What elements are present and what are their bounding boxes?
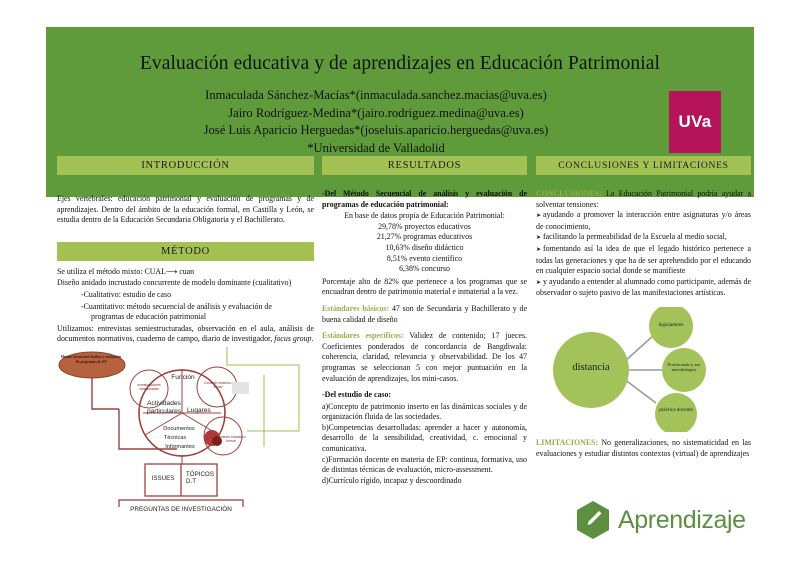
limitaciones-label: LIMITACIONES: (536, 438, 598, 447)
section-header-introduccion: INTRODUCCIÓN (57, 156, 314, 175)
diagram-label-contexto-historico: Contexto histórico-social (201, 381, 235, 389)
resultados-stat: 10,63% diseño didáctico (322, 243, 527, 254)
method-diagram-oval-label: Método Secuencial Análisis y evaluación … (60, 355, 122, 364)
metodo-bullet-2: -Cuantitativo: método secuencial de anál… (57, 302, 314, 313)
resultados-heading-2-text: -Del estudio de caso: (322, 390, 391, 399)
diagram-label-tecnicas: Técnicas (150, 435, 200, 441)
column-left: INTRODUCCIÓN Ejes vertebrales: educación… (57, 156, 314, 507)
estandares-especificos: Estándares específicos: Validez de conte… (322, 331, 527, 384)
limitaciones-body: LIMITACIONES: No generalizaciones, no si… (536, 438, 751, 459)
resultados-heading-1: -Del Método Secuencial de análisis y eva… (322, 189, 527, 210)
metodo-line-1: Se utiliza el método mixto: CUAL⟶ cuan (57, 267, 314, 278)
resultados-stat: 8,51% evento científico (322, 254, 527, 265)
metodo-line-2: Diseño anidado incrustado concurrente de… (57, 278, 314, 289)
affiliation-line: *Universidad de Valladolid (46, 140, 706, 158)
introduccion-paragraph: Ejes vertebrales: educación patrimonial … (57, 194, 314, 226)
resultados-stat: 6,38% concurso (322, 264, 527, 275)
conclusiones-label: CONCLUSIONES: (536, 189, 602, 198)
estandares-basicos: Estándares básicos: 47 son de Secundaria… (322, 304, 527, 325)
diagram-label-investigaciones: Investigaciones relacionadas (131, 383, 167, 391)
conclusiones-bullet: facilitando la permeabilidad de la Escue… (536, 232, 751, 244)
conclusiones-intro: CONCLUSIONES: La Educación Patrimonial p… (536, 189, 751, 210)
conclusiones-bullet: ayudando a promover la interacción entre… (536, 210, 751, 232)
author-line: Inmaculada Sánchez-Macías*(inmaculada.sa… (46, 87, 706, 105)
resultados-stat: 29,78% proyectos educativos (322, 222, 527, 233)
aprendizaje-logo: Aprendizaje (575, 500, 746, 540)
bubble-label-profesorado: Profesorado y sus metodologías (664, 362, 704, 373)
section-header-metodo: MÉTODO (57, 242, 314, 261)
diagram-box-issues: ISSUES (146, 475, 180, 482)
author-line: Jairo Rodríguez-Medina*(jairo.rodriguez.… (46, 105, 706, 123)
diagram-label-lugares: Lugares (187, 407, 229, 414)
metodo-line-3-end: . (311, 334, 313, 343)
conclusiones-body: CONCLUSIONES: La Educación Patrimonial p… (536, 189, 751, 299)
author-line: José Luis Aparicio Herguedas*(joseluis.a… (46, 122, 706, 140)
resultados-heading-2: -Del estudio de caso: (322, 390, 527, 401)
resultados-db-lead: En base de datos propia de Educación Pat… (322, 211, 527, 222)
bubble-label-legisladores: legisladores (647, 322, 695, 328)
metodo-body: Se utiliza el método mixto: CUAL⟶ cuan D… (57, 267, 314, 345)
resultados-item: c)Formación docente en materia de EP: co… (322, 455, 527, 476)
diagram-label-funcion: Función (161, 374, 205, 381)
conclusiones-bullet: y ayudando a entender al alumnado como p… (536, 277, 751, 299)
page-title: Evaluación educativa y de aprendizajes e… (46, 53, 754, 75)
diagram-label-documentos: Documentos (152, 426, 206, 432)
resultados-stat: 21,27% programas educativos (322, 232, 527, 243)
resultados-item: a)Concepto de patrimonio inserto en las … (322, 402, 527, 423)
section-header-conclusiones: CONCLUSIONES Y LIMITACIONES (536, 156, 751, 175)
metodo-line-3-italic: focus group (274, 334, 311, 343)
diagram-label-contexto-educativo: Contexto educativo formal (215, 435, 247, 443)
bubble-label-practica-docente: práctica docente (657, 407, 695, 413)
uva-logo-text: UVa (678, 112, 711, 132)
column-right: CONCLUSIONES Y LIMITACIONES CONCLUSIONES… (536, 156, 751, 465)
pencil-hexagon-icon (575, 500, 611, 540)
limitaciones: LIMITACIONES: No generalizaciones, no si… (536, 438, 751, 459)
author-list: Inmaculada Sánchez-Macías*(inmaculada.sa… (46, 87, 706, 157)
estandares-especificos-label: Estándares específicos: (322, 331, 404, 340)
bubble-center-label: distancia (553, 362, 629, 373)
resultados-body: -Del Método Secuencial de análisis y eva… (322, 189, 527, 486)
resultados-heading-1-text: -Del Método Secuencial de análisis y eva… (322, 189, 527, 209)
conclusiones-bullet: fomentando así la idea de que el legado … (536, 244, 751, 277)
resultados-item: b)Competencias desarrolladas: aprender a… (322, 423, 527, 455)
diagram-box-topicos: TÓPICOS D.T (186, 471, 220, 486)
diagram-box-preguntas: PREGUNTAS DE INVESTIGACIÓN (119, 506, 243, 513)
resultados-stats-note: Porcentaje alto de 82% que pertenece a l… (322, 277, 527, 298)
introduccion-body: Ejes vertebrales: educación patrimonial … (57, 194, 314, 226)
diagram-label-informantes: Informantes (153, 444, 207, 450)
metodo-bullet-2b: programas de educación patrimonial (57, 312, 314, 323)
column-middle: RESULTADOS -Del Método Secuencial de aná… (322, 156, 527, 486)
diagram-label-actividades: Actividades particulares (142, 400, 186, 416)
uva-logo: UVa (669, 91, 721, 153)
section-header-resultados: RESULTADOS (322, 156, 527, 175)
bubble-diagram: distancia legisladores Profesorado y sus… (536, 307, 751, 432)
method-diagram: Método Secuencial Análisis y evaluación … (57, 347, 314, 507)
metodo-line-3: Utilizamos: entrevistas semiestructurada… (57, 324, 314, 345)
estandares-basicos-label: Estándares básicos: (322, 304, 389, 313)
metodo-bullet-1: -Cualitativo: estudio de caso (57, 290, 314, 301)
aprendizaje-logo-text: Aprendizaje (618, 506, 746, 535)
resultados-item: d)Currículo rígido, incapaz y descoordin… (322, 476, 527, 487)
